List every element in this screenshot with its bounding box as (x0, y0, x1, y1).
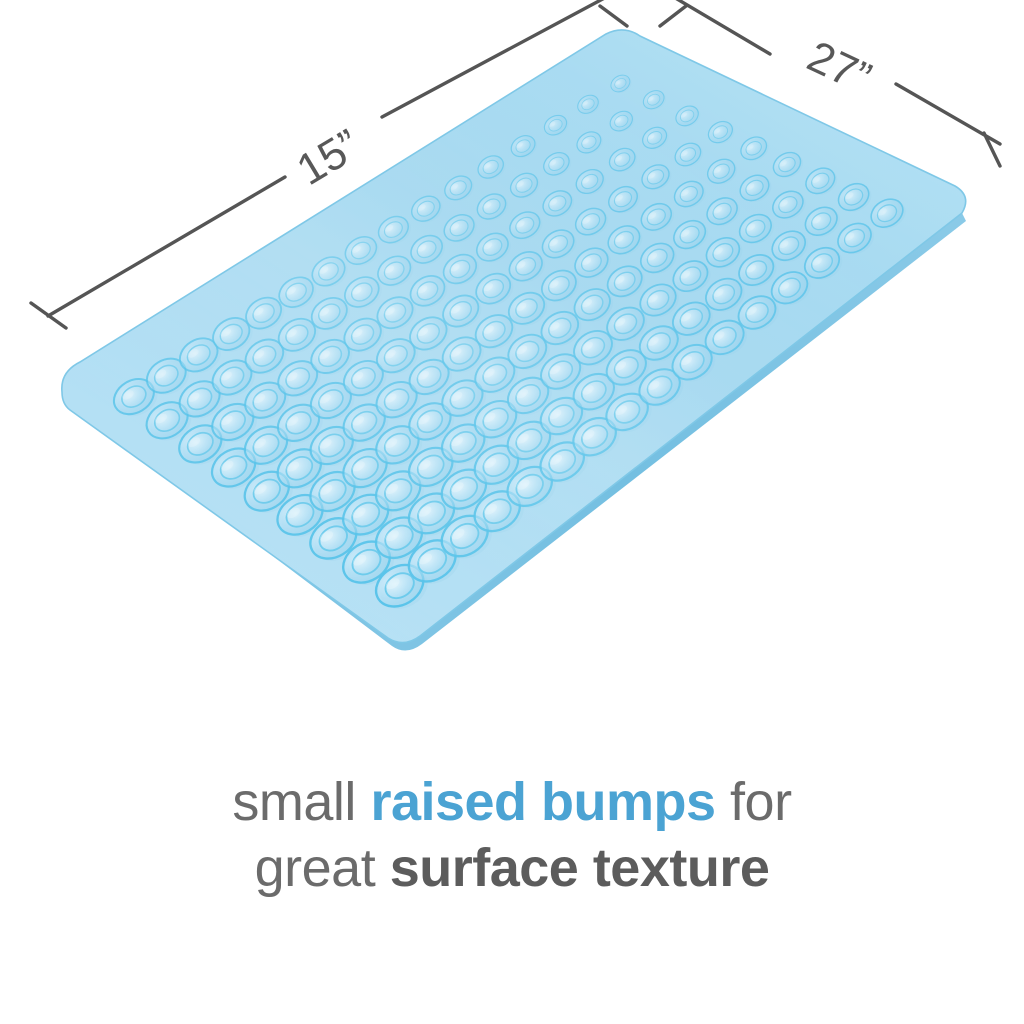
dimension-label-length: 15” (289, 120, 369, 195)
caption-line1-part3: for (716, 772, 792, 832)
caption: small raised bumps for great surface tex… (0, 770, 1024, 902)
caption-line1-part1: small (232, 772, 370, 832)
caption-line2-part1: great (255, 838, 390, 898)
product-image-stage: 15” 27” small raised bumps for great sur… (0, 0, 1024, 1024)
caption-line-1: small raised bumps for (0, 770, 1024, 836)
bath-mat (62, 30, 966, 651)
caption-line2-highlight: surface texture (390, 838, 770, 898)
caption-line-2: great surface texture (0, 836, 1024, 902)
dimension-label-width: 27” (800, 32, 878, 103)
caption-line1-highlight: raised bumps (370, 772, 715, 832)
